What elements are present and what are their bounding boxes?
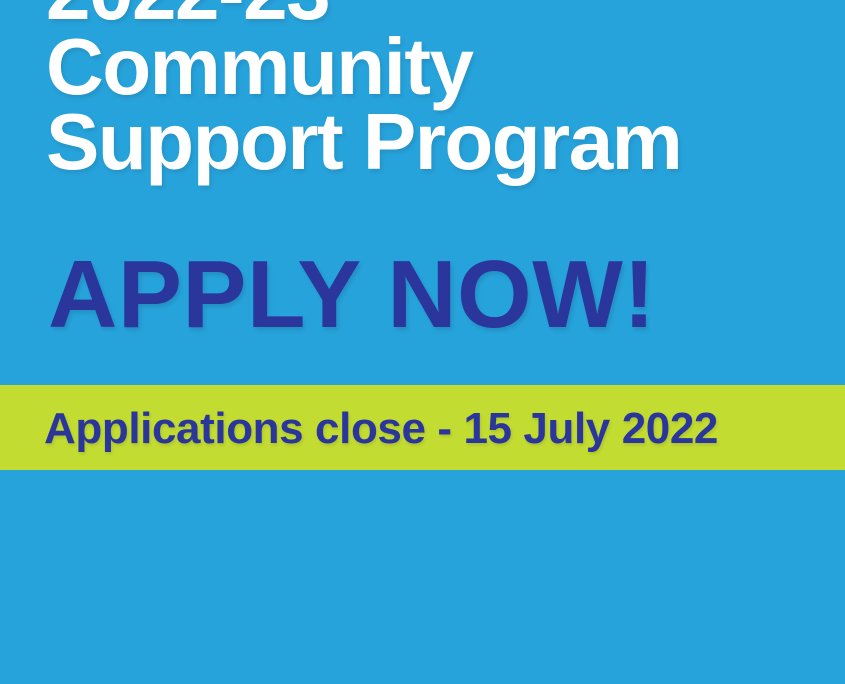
deadline-text: Applications close - 15 July 2022 (44, 404, 718, 454)
hero-banner: 2022-23 Community Support Program APPLY … (0, 0, 845, 385)
apply-now-callout: APPLY NOW! (48, 247, 656, 343)
deadline-bar: Applications close - 15 July 2022 (0, 385, 845, 470)
image-mosaic: 2 1 (0, 470, 845, 684)
page-title: 2022-23 Community Support Program (46, 0, 826, 180)
